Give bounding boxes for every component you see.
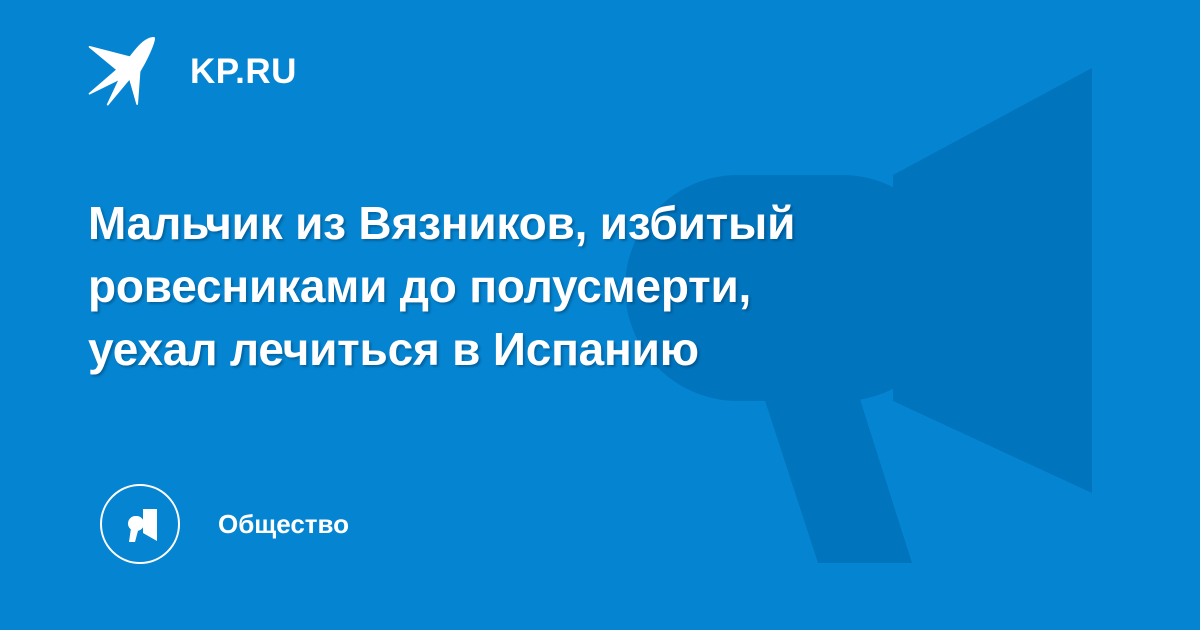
headline-line-3: уехал лечиться в Испанию bbox=[88, 318, 1018, 381]
megaphone-icon bbox=[121, 507, 159, 543]
share-card: KP.RU Мальчик из Вязников, избитый ровес… bbox=[0, 0, 1200, 630]
page-title: Мальчик из Вязников, избитый ровесниками… bbox=[88, 192, 1018, 381]
category-badge bbox=[100, 484, 180, 564]
site-logo[interactable]: KP.RU bbox=[88, 34, 297, 108]
category-tag[interactable]: Общество bbox=[100, 484, 349, 564]
category-label: Общество bbox=[218, 511, 349, 537]
swallow-bird-icon bbox=[88, 36, 160, 106]
headline-line-1: Мальчик из Вязников, избитый bbox=[88, 192, 1018, 255]
site-wordmark: KP.RU bbox=[190, 54, 297, 89]
headline-line-2: ровесниками до полусмерти, bbox=[88, 255, 1018, 318]
